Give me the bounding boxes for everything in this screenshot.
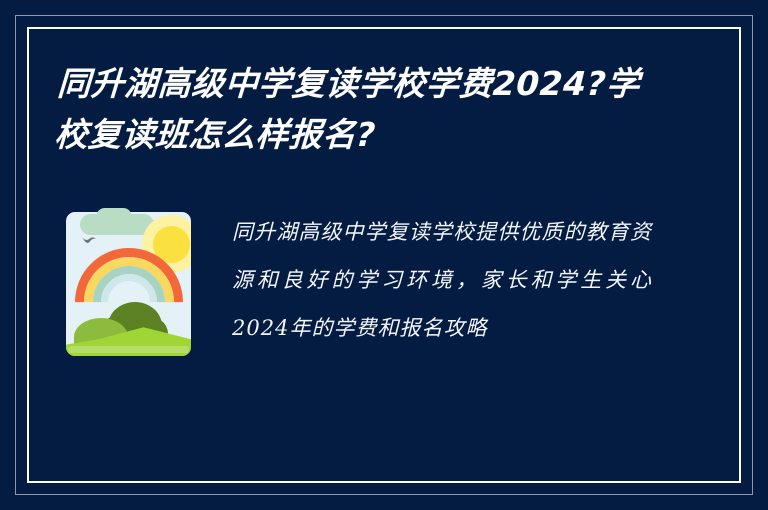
bird-icon xyxy=(82,236,97,247)
ground-strip xyxy=(68,346,189,353)
rainbow-landscape-illustration xyxy=(66,208,191,356)
body-text: 同升湖高级中学复读学校提供优质的教育资源和良好的学习环境，家长和学生关心2024… xyxy=(232,208,652,352)
poster-canvas: 同升湖高级中学复读学校学费2024?学校复读班怎么样报名? 同升湖高级中学复读学… xyxy=(0,0,768,510)
page-title: 同升湖高级中学复读学校学费2024?学校复读班怎么样报名? xyxy=(53,58,658,160)
